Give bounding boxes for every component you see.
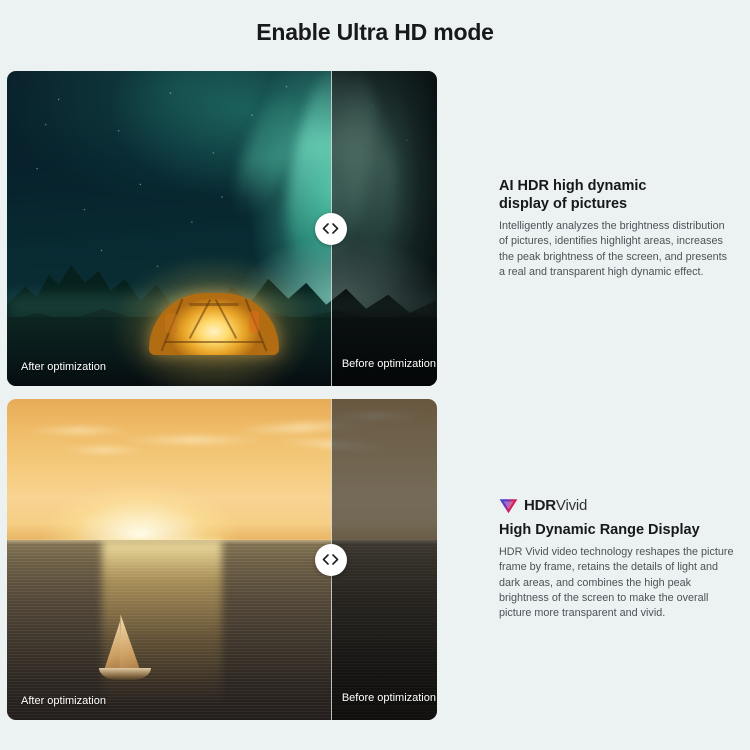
tent-base-seam	[165, 341, 263, 343]
label-after-optimization: After optimization	[21, 361, 106, 373]
cloud-streak-5	[59, 447, 149, 453]
feature-row-ai-hdr: After optimization Before optimization A…	[0, 71, 750, 386]
comparison-slider-handle[interactable]	[315, 213, 347, 245]
hdr-vivid-wordmark: HDRVivid	[524, 497, 587, 514]
hdr-logo-text-thin: Vivid	[556, 497, 587, 514]
label-after-optimization: After optimization	[21, 695, 106, 707]
hdr-vivid-triangle-icon	[499, 498, 518, 514]
feature-info-hdr-vivid: HDRVivid High Dynamic Range Display HDR …	[437, 399, 750, 720]
sailboat-main-sail	[119, 614, 140, 670]
chevron-left-icon[interactable]	[322, 554, 329, 565]
cloud-streak-1	[24, 427, 134, 434]
feature-info-ai-hdr: AI HDR high dynamic display of pictures …	[437, 71, 750, 386]
comparison-slider-handle[interactable]	[315, 544, 347, 576]
feature-title-line-1: AI HDR high dynamic	[499, 177, 715, 196]
sailboat	[97, 604, 153, 684]
chevron-left-icon[interactable]	[322, 223, 329, 234]
glowing-tent	[149, 281, 279, 355]
tent-ridge	[189, 303, 239, 306]
tent-window-right	[249, 311, 259, 333]
label-before-optimization: Before optimization	[342, 358, 436, 370]
page-title: Enable Ultra HD mode	[0, 0, 750, 62]
feature-description-hdr-vivid: HDR Vivid video technology reshapes the …	[499, 545, 734, 622]
hdr-vivid-logo: HDRVivid	[499, 497, 734, 514]
feature-row-hdr-vivid: After optimization Before optimization H…	[0, 399, 750, 720]
feature-description-ai-hdr: Intelligently analyzes the brightness di…	[499, 219, 734, 280]
feature-title-line-2: display of pictures	[499, 195, 715, 214]
comparison-slider-hdr-vivid[interactable]: After optimization Before optimization	[7, 399, 437, 720]
tent-window-left	[165, 313, 177, 333]
cloud-streak-2	[119, 436, 269, 444]
feature-title-hdr-vivid: High Dynamic Range Display	[499, 521, 734, 540]
feature-title-ai-hdr: AI HDR high dynamic display of pictures	[499, 177, 715, 214]
hdr-logo-text-bold: HDR	[524, 497, 556, 514]
chevron-right-icon[interactable]	[332, 554, 339, 565]
label-before-optimization: Before optimization	[342, 692, 436, 704]
comparison-slider-ai-hdr[interactable]: After optimization Before optimization	[7, 71, 437, 386]
sailboat-jib-sail	[103, 620, 120, 670]
chevron-right-icon[interactable]	[332, 223, 339, 234]
sailboat-hull	[99, 668, 151, 680]
